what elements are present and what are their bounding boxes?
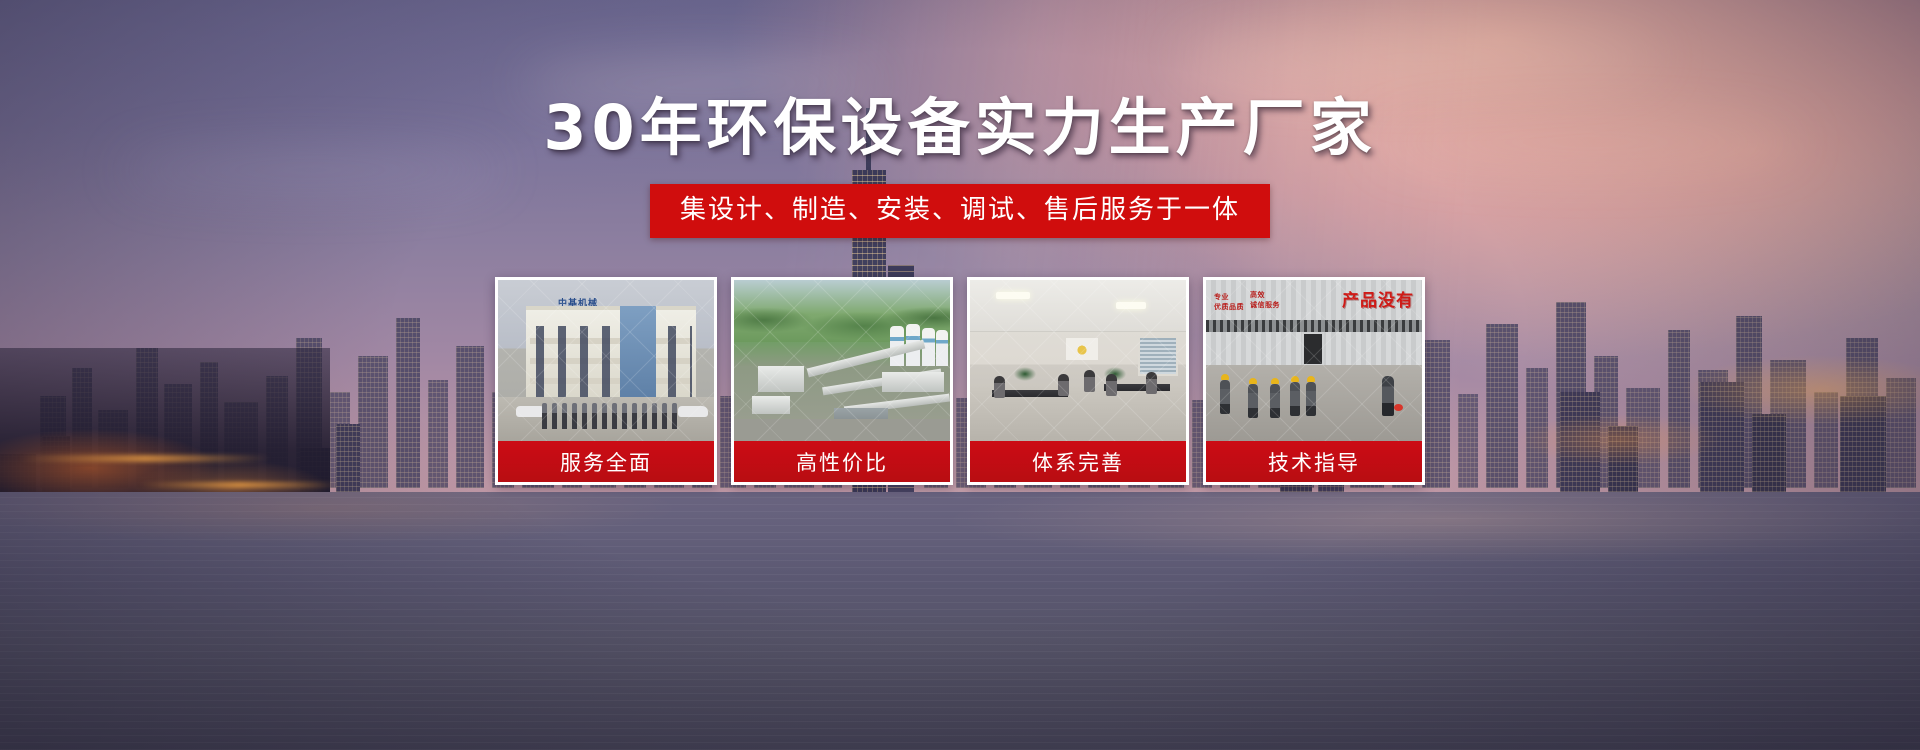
glass-atrium-shape	[620, 306, 656, 402]
office-person-shape	[1058, 374, 1069, 396]
factory-slogan-small: 专业	[1214, 292, 1229, 302]
worker-shape	[1248, 384, 1258, 418]
hero-content: 30年环保设备实力生产厂家 集设计、制造、安装、调试、售后服务于一体 中基机械	[0, 0, 1920, 750]
office-person-shape	[994, 376, 1005, 398]
worker-shape	[1290, 382, 1300, 416]
feature-card[interactable]: 中基机械 服务全面	[495, 277, 717, 485]
company-office-building-photo[interactable]: 中基机械	[495, 277, 717, 441]
worker-shape	[1306, 382, 1316, 416]
factory-window-band-shape	[1206, 320, 1422, 332]
car-shape	[678, 406, 708, 417]
ceiling-lamp-shape	[1116, 302, 1146, 309]
ceiling-lamp-shape	[996, 292, 1030, 299]
plant-road-shape	[734, 419, 953, 441]
office-person-shape	[1146, 372, 1157, 394]
feature-card[interactable]: 产品没有 专业 优质品质 高效 诚信服务 技	[1203, 277, 1425, 485]
red-helmet-shape	[1394, 404, 1403, 411]
silo-shape	[936, 330, 948, 366]
factory-slogan-small: 诚信服务	[1250, 300, 1280, 310]
feature-card[interactable]: 体系完善	[967, 277, 1189, 485]
window-blinds-shape	[1138, 336, 1178, 376]
supervisor-shape	[1382, 376, 1394, 416]
feature-card-caption: 技术指导	[1203, 441, 1425, 485]
workshop-workers-training-photo[interactable]: 产品没有 专业 优质品质 高效 诚信服务	[1203, 277, 1425, 441]
office-person-shape	[1106, 374, 1117, 396]
building-facade-shape	[526, 306, 696, 406]
factory-door-shape	[1302, 332, 1324, 366]
plant-building-shape	[758, 366, 804, 392]
feature-card-caption: 体系完善	[967, 441, 1189, 485]
feature-card-list: 中基机械 服务全面	[495, 277, 1425, 485]
ceiling-shape	[970, 280, 1186, 332]
page-title: 30年环保设备实力生产厂家	[543, 97, 1376, 159]
worker-shape	[1220, 380, 1230, 414]
office-person-shape	[1084, 370, 1095, 392]
feature-card[interactable]: 高性价比	[731, 277, 953, 485]
staff-row-shape	[542, 403, 677, 429]
feature-card-caption: 高性价比	[731, 441, 953, 485]
factory-slogan-text: 产品没有	[1342, 286, 1414, 311]
factory-slogan-small: 优质品质	[1214, 302, 1244, 312]
factory-slogan-small: 高效	[1250, 290, 1265, 300]
worker-shape	[1270, 384, 1280, 418]
office-interior-staff-photo[interactable]	[967, 277, 1189, 441]
subtitle-banner: 集设计、制造、安装、调试、售后服务于一体	[650, 184, 1270, 238]
feature-card-caption: 服务全面	[495, 441, 717, 485]
office-plant-shape	[1010, 364, 1040, 384]
wall-decoration-shape	[1066, 338, 1098, 360]
hero-banner: 30年环保设备实力生产厂家 集设计、制造、安装、调试、售后服务于一体 中基机械	[0, 0, 1920, 750]
plant-building-shape	[752, 396, 790, 414]
plant-building-shape	[882, 372, 944, 392]
aerial-factory-plant-photo[interactable]	[731, 277, 953, 441]
